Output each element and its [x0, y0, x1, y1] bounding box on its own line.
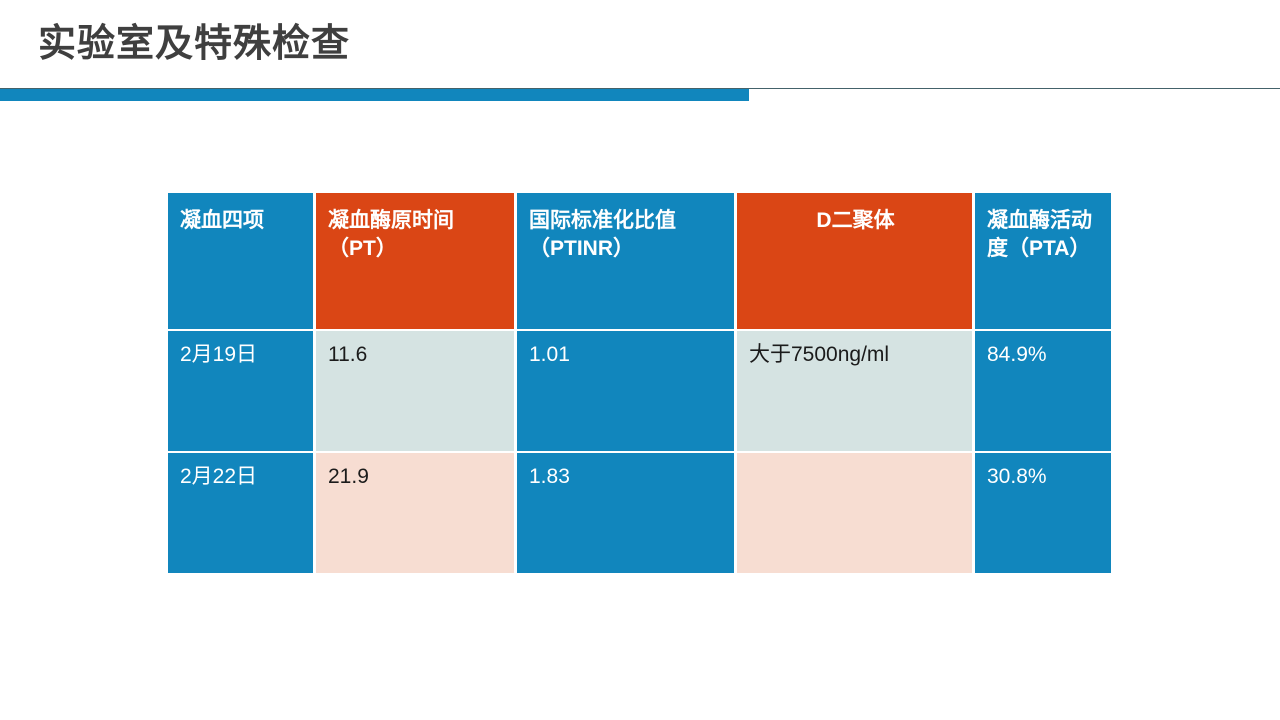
column-header-panel: 凝血四项	[168, 193, 316, 331]
cell-ptinr-value: 1.83	[517, 453, 737, 573]
cell-pta-value: 84.9%	[975, 331, 1111, 453]
table-row: 2月22日 21.9 1.83 30.8%	[168, 453, 1111, 573]
cell-pta-value: 30.8%	[975, 453, 1111, 573]
coagulation-results-table: 凝血四项 凝血酶原时间（PT） 国际标准化比值（PTINR） D二聚体 凝血酶活…	[168, 193, 1111, 573]
column-header-d-dimer: D二聚体	[737, 193, 975, 331]
cell-date: 2月19日	[168, 331, 316, 453]
cell-d-dimer-value: 大于7500ng/ml	[737, 331, 975, 453]
cell-pt-value: 21.9	[316, 453, 517, 573]
cell-date: 2月22日	[168, 453, 316, 573]
table-row: 2月19日 11.6 1.01 大于7500ng/ml 84.9%	[168, 331, 1111, 453]
table-header-row: 凝血四项 凝血酶原时间（PT） 国际标准化比值（PTINR） D二聚体 凝血酶活…	[168, 193, 1111, 331]
column-header-pta: 凝血酶活动度（PTA）	[975, 193, 1111, 331]
column-header-ptinr: 国际标准化比值（PTINR）	[517, 193, 737, 331]
cell-d-dimer-value	[737, 453, 975, 573]
cell-ptinr-value: 1.01	[517, 331, 737, 453]
page-title: 实验室及特殊检查	[38, 22, 350, 68]
title-accent-bar	[0, 89, 749, 101]
cell-pt-value: 11.6	[316, 331, 517, 453]
column-header-pt: 凝血酶原时间（PT）	[316, 193, 517, 331]
